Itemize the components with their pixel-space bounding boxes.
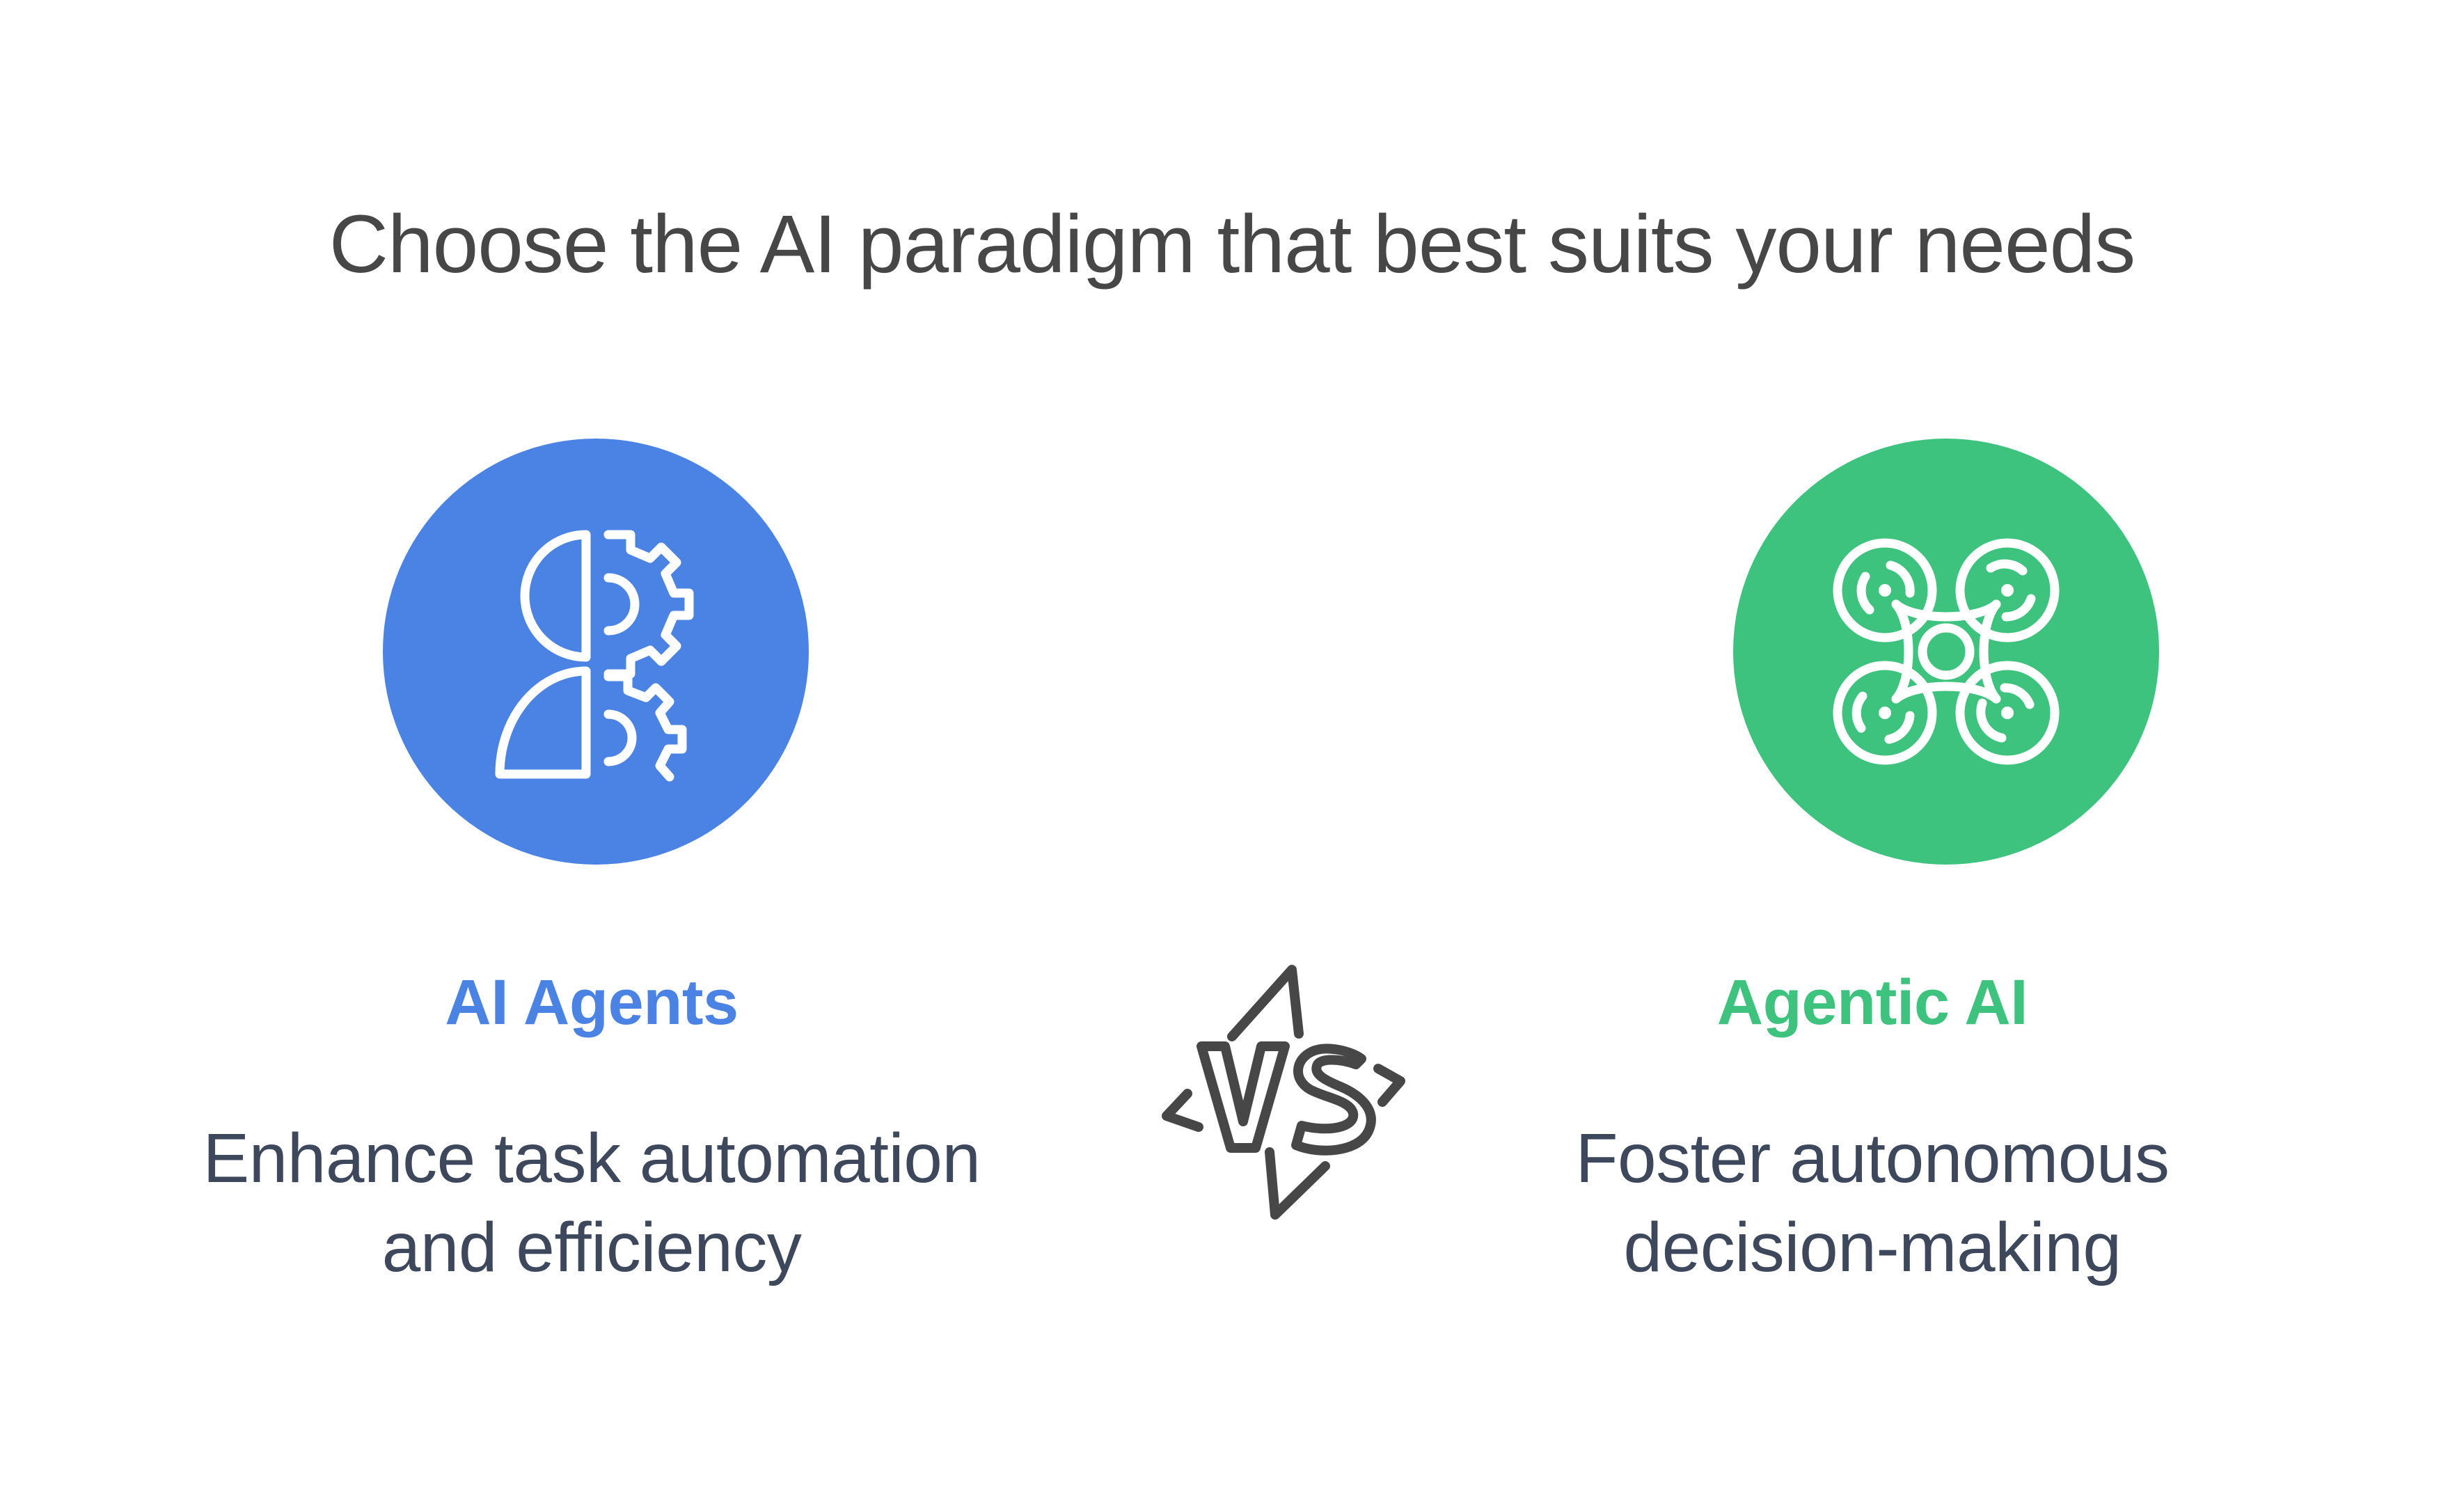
ai-agents-icon-badge[interactable] — [383, 439, 809, 865]
comparison-row: AI Agents Enhance task automation and ef… — [0, 418, 2464, 1323]
agentic-ai-label: Agentic AI — [1378, 968, 2367, 1038]
vs-badge — [1114, 936, 1406, 1243]
person-gear-icon — [464, 512, 728, 791]
comparison-item-agentic-ai[interactable]: Agentic AI Foster autonomous decision-ma… — [1378, 418, 2367, 1323]
ai-agents-description: Enhance task automation and efficiency — [97, 1114, 1086, 1292]
ai-agents-label: AI Agents — [97, 968, 1086, 1038]
vs-spark-icon — [1114, 936, 1406, 1243]
page-title: Choose the AI paradigm that best suits y… — [0, 202, 2464, 288]
agentic-ai-icon-badge[interactable] — [1733, 439, 2159, 865]
comparison-item-ai-agents[interactable]: AI Agents Enhance task automation and ef… — [97, 418, 1086, 1323]
drone-quadcopter-icon — [1807, 512, 2085, 791]
agentic-ai-description: Foster autonomous decision-making — [1378, 1114, 2367, 1292]
infographic-canvas: Choose the AI paradigm that best suits y… — [0, 0, 2464, 1512]
